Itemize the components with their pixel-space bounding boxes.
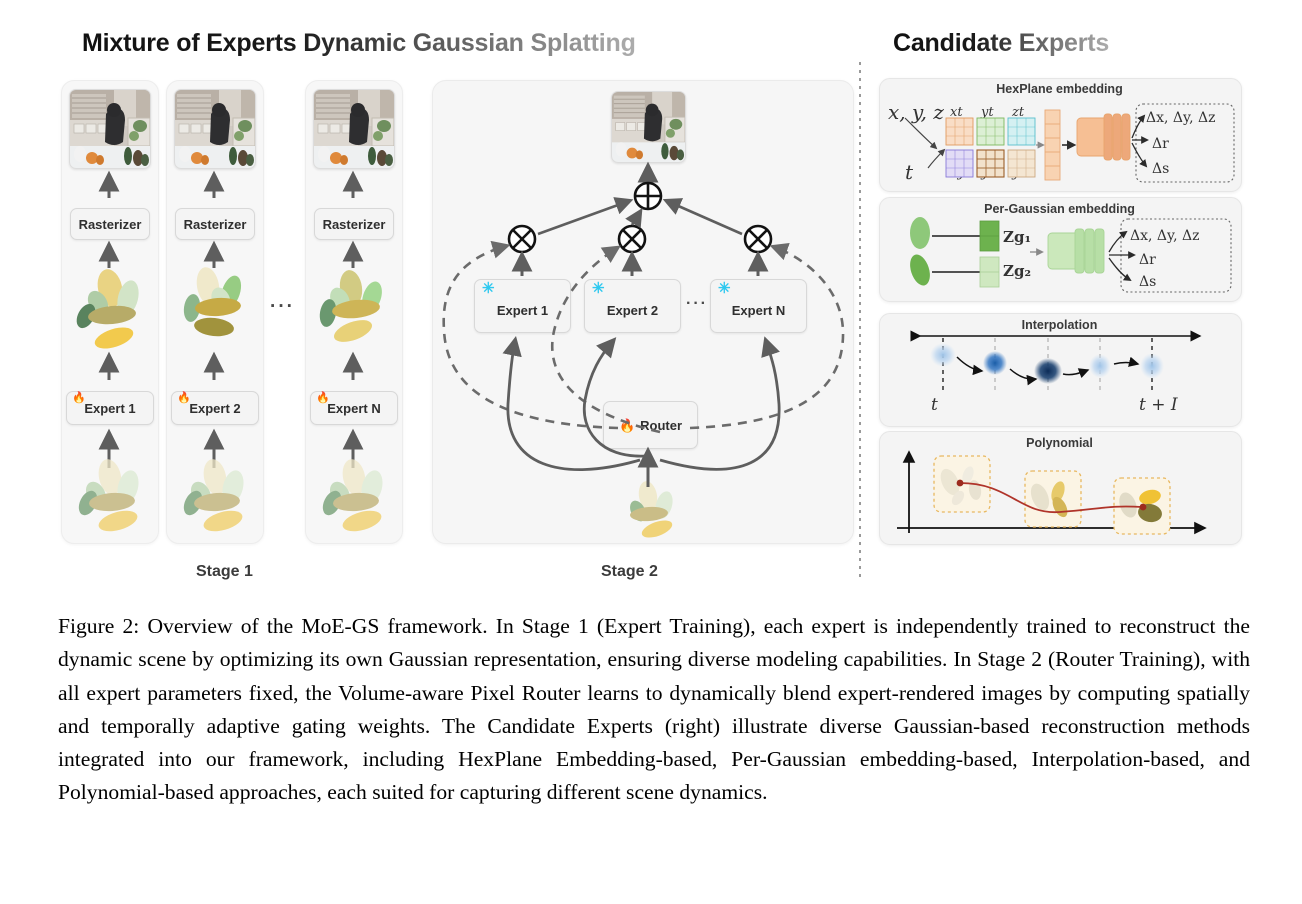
stage1-ellipsis: ··· <box>270 296 295 318</box>
hexplane-output-r: Δr <box>1152 136 1169 152</box>
hexplane-mlp-label: MLP <box>1088 128 1118 144</box>
hexplane-title: HexPlane embedding <box>879 82 1240 96</box>
snowflake-icon: ✳ <box>592 281 605 296</box>
router-label: Router <box>640 418 682 433</box>
interpolation-axis-start-label: t <box>931 395 938 415</box>
hexplane-plane-label-xy: xy <box>950 166 965 181</box>
hexplane-output-xyz: Δx, Δy, Δz <box>1146 110 1215 126</box>
pergaussian-mlp-label: MLP <box>1061 243 1091 259</box>
rasterizer-label: Rasterizer <box>323 217 386 232</box>
pergaussian-code-2: Zg₂ <box>1003 262 1031 280</box>
snowflake-icon: ✳ <box>482 281 495 296</box>
stage1-render-thumbnail-2 <box>174 89 256 169</box>
stage2-label: Stage 2 <box>601 563 658 581</box>
hexplane-plane-label-yz1: yz <box>981 166 995 181</box>
stage2-expert-box-1[interactable]: ✳ Expert 1 <box>474 279 571 333</box>
router-box[interactable]: 🔥 Router <box>603 401 698 449</box>
stage2-blended-thumbnail <box>611 91 686 163</box>
pergaussian-output-s: Δs <box>1139 274 1156 290</box>
fire-icon: 🔥 <box>316 393 330 404</box>
stage1-render-thumbnail-1 <box>69 89 151 169</box>
page-title-left: Mixture of Experts Dynamic Gaussian Spla… <box>82 29 636 58</box>
page-title-right: Candidate Experts <box>893 29 1109 58</box>
interpolation-title: Interpolation <box>879 318 1240 332</box>
hexplane-plane-label-xt: xt <box>950 105 963 120</box>
stage1-expert-label: Expert N <box>327 401 380 416</box>
stage2-expert-box-n[interactable]: ✳ Expert N <box>710 279 807 333</box>
pergaussian-output-xyz: Δx, Δy, Δz <box>1130 228 1199 244</box>
fire-icon: 🔥 <box>72 393 86 404</box>
hexplane-plane-label-yt: yt <box>981 105 994 120</box>
stage2-ellipsis: ··· <box>686 295 708 313</box>
hexplane-input-xyz: x, y, z <box>888 100 944 124</box>
stage1-label: Stage 1 <box>196 563 253 581</box>
rasterizer-box-2[interactable]: Rasterizer <box>175 208 255 240</box>
fire-icon: 🔥 <box>177 393 191 404</box>
hexplane-plane-label-yz2: yz <box>1012 166 1026 181</box>
hexplane-output-s: Δs <box>1152 161 1169 177</box>
stage1-expert-box-1[interactable]: 🔥 Expert 1 <box>66 391 154 425</box>
pergaussian-code-1: Zg₁ <box>1003 228 1031 246</box>
rasterizer-box-n[interactable]: Rasterizer <box>314 208 394 240</box>
pergaussian-title: Per-Gaussian embedding <box>879 202 1240 216</box>
stage1-expert-label: Expert 1 <box>84 401 135 416</box>
hexplane-plane-label-zt: zt <box>1012 105 1024 120</box>
rasterizer-label: Rasterizer <box>184 217 247 232</box>
stage2-expert-label: Expert 1 <box>497 303 548 318</box>
stage2-expert-label: Expert 2 <box>607 303 658 318</box>
stage1-expert-box-n[interactable]: 🔥 Expert N <box>310 391 398 425</box>
figure-caption: Figure 2: Overview of the MoE-GS framewo… <box>58 610 1250 810</box>
fire-icon: 🔥 <box>619 419 635 432</box>
hexplane-input-t: t <box>905 160 913 184</box>
snowflake-icon: ✳ <box>718 281 731 296</box>
stage2-expert-label: Expert N <box>732 303 785 318</box>
polynomial-title: Polynomial <box>879 436 1240 450</box>
stage2-expert-box-2[interactable]: ✳ Expert 2 <box>584 279 681 333</box>
pergaussian-output-r: Δr <box>1139 252 1156 268</box>
stage1-expert-label: Expert 2 <box>189 401 240 416</box>
rasterizer-box-1[interactable]: Rasterizer <box>70 208 150 240</box>
stage1-expert-box-2[interactable]: 🔥 Expert 2 <box>171 391 259 425</box>
interpolation-axis-end-label: t + I <box>1139 395 1178 415</box>
stage1-render-thumbnail-n <box>313 89 395 169</box>
rasterizer-label: Rasterizer <box>79 217 142 232</box>
